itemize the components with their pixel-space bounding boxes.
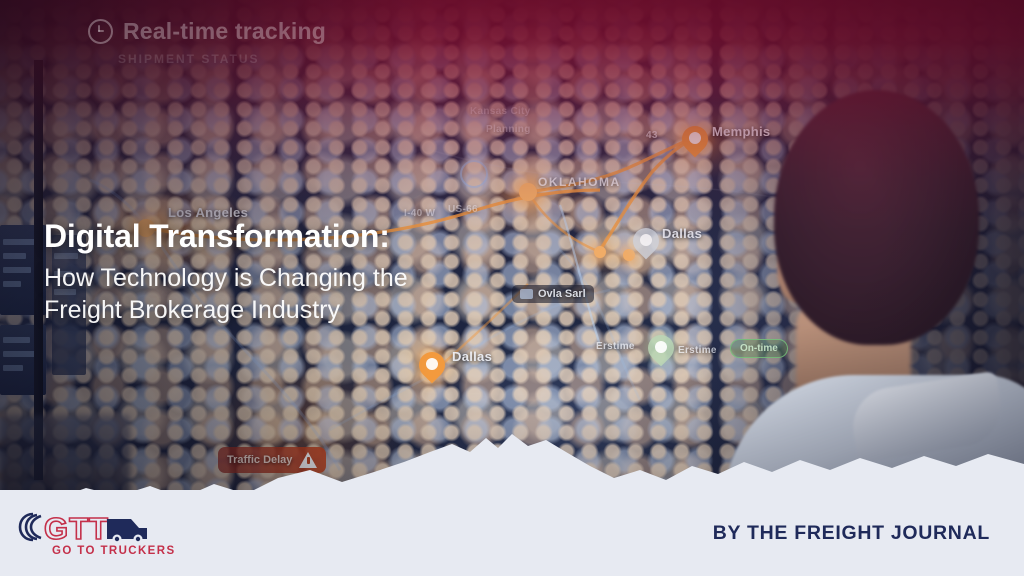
footer-content: GTT GO TO TRUCKERS BY THE FREIGHT JOURNA… (0, 490, 1024, 576)
logo-mark: GTT (44, 514, 109, 543)
logo-tagline: GO TO TRUCKERS (52, 545, 176, 557)
publisher-byline: BY THE FREIGHT JOURNAL (713, 522, 990, 545)
tire-icon (16, 511, 46, 543)
realtime-tracking-hud: Real-time tracking (88, 18, 326, 45)
page-title: Digital Transformation: (44, 218, 604, 255)
article-hero-banner: Los Angeles Memphis Dallas Dallas OKLAHO… (0, 0, 1024, 576)
clock-icon (88, 19, 113, 44)
truck-icon (105, 515, 149, 543)
headline-block: Digital Transformation: How Technology i… (44, 218, 604, 326)
page-subtitle-line2: Freight Brokerage Industry (44, 294, 604, 326)
hud-sub-label: SHIPMENT STATUS (118, 52, 260, 66)
gtt-logo[interactable]: GTT GO TO TRUCKERS (16, 509, 176, 557)
realtime-tracking-label: Real-time tracking (123, 18, 326, 45)
page-subtitle-line1: How Technology is Changing the (44, 262, 604, 294)
